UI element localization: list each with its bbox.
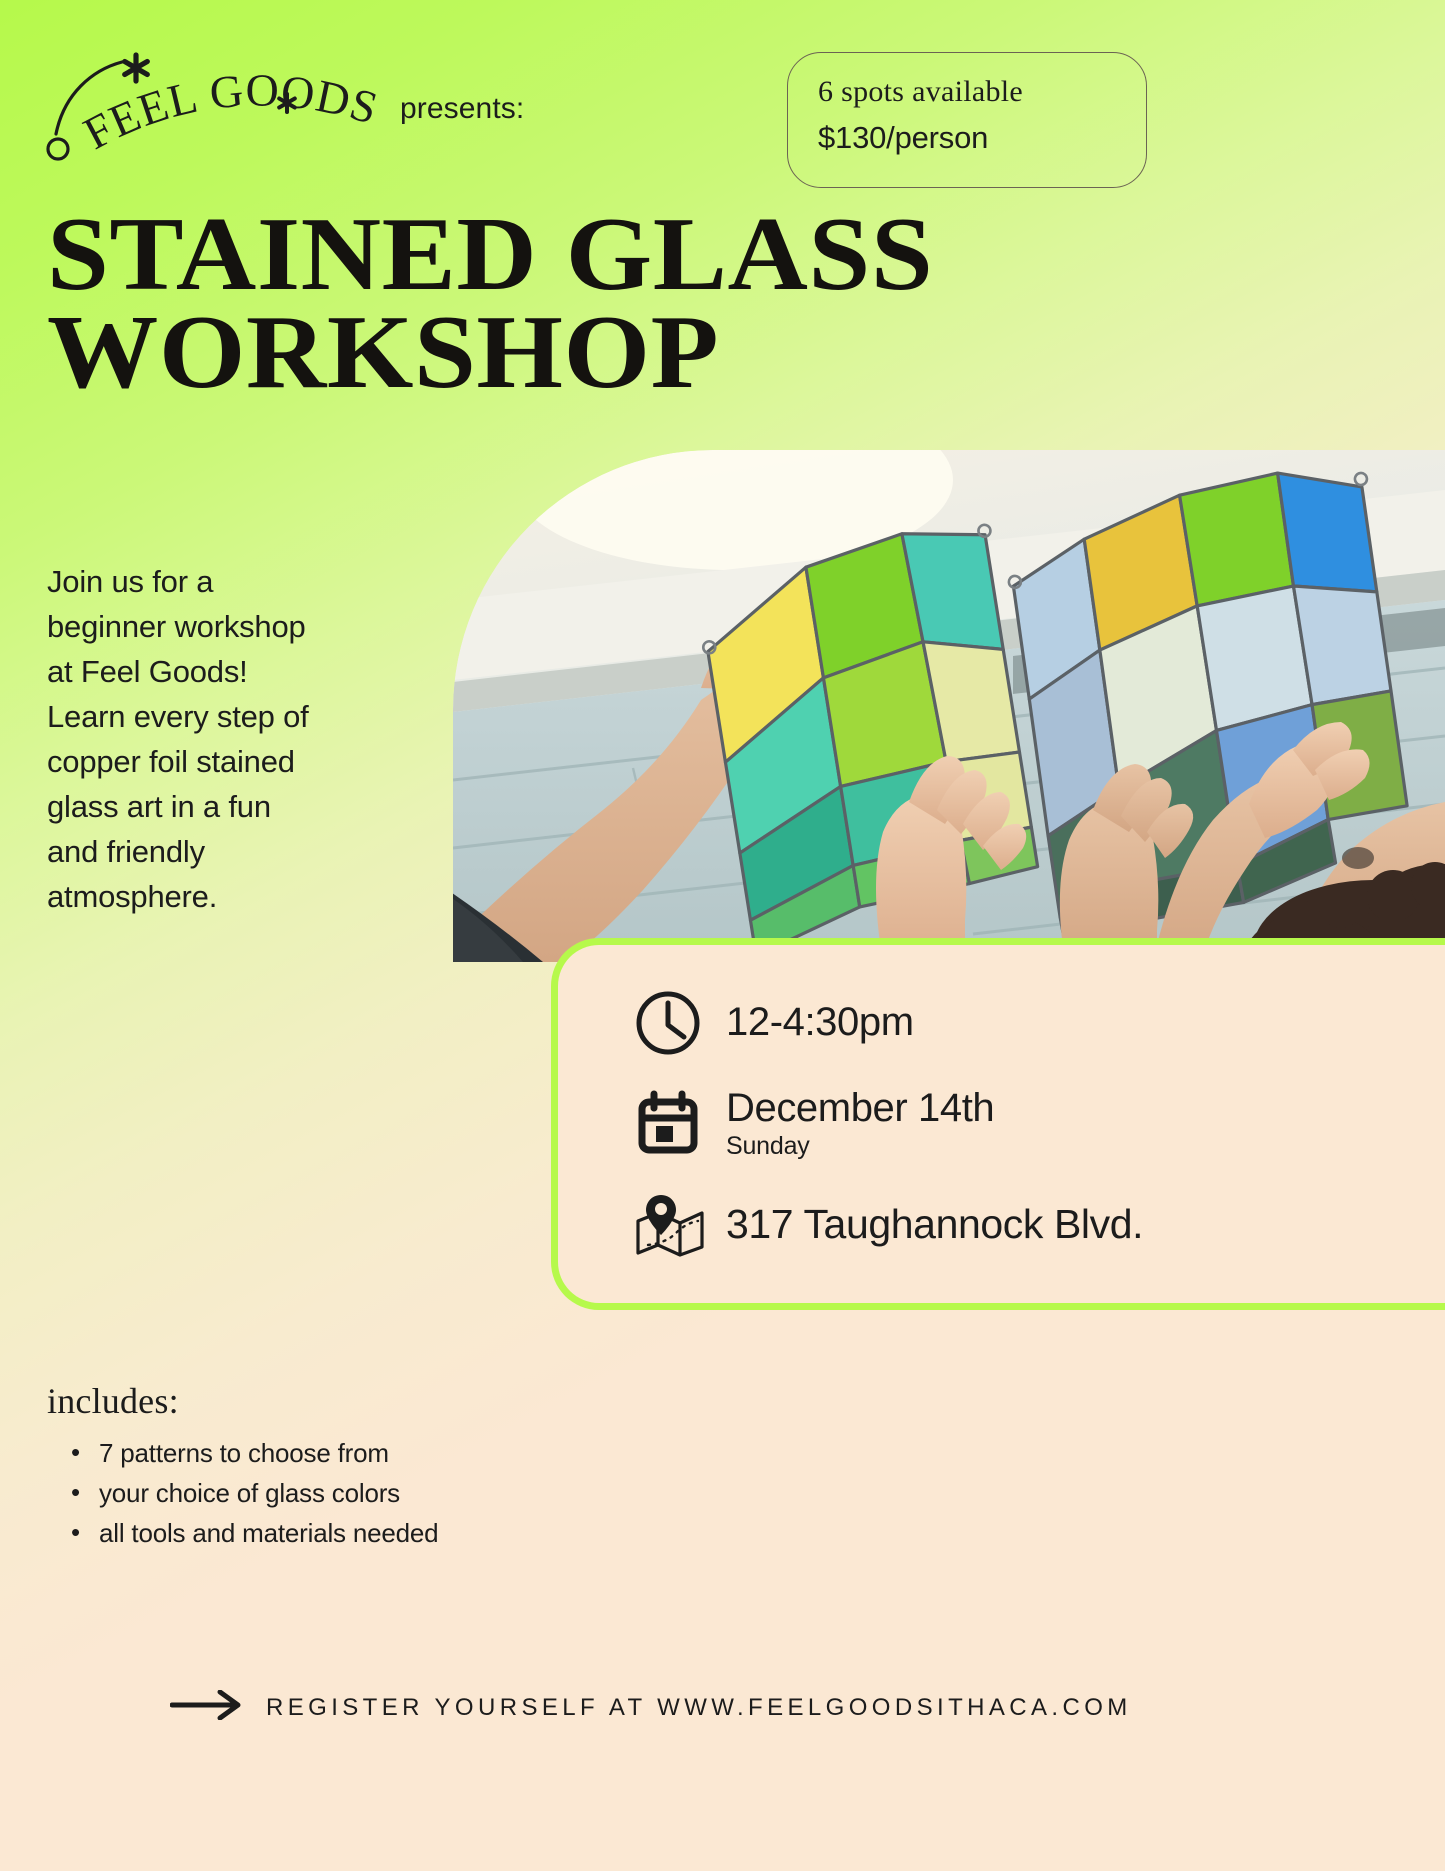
arrow-right-icon (170, 1690, 244, 1725)
price-text: $130/person (818, 120, 1146, 156)
includes-list: 7 patterns to choose from your choice of… (47, 1434, 567, 1553)
page-title: STAINED GLASS WORKSHOP (47, 205, 1001, 400)
date-value: December 14th (726, 1086, 994, 1130)
list-item: all tools and materials needed (47, 1514, 567, 1554)
time-value: 12-4:30pm (726, 1000, 914, 1044)
map-pin-icon (632, 1189, 710, 1259)
poster-canvas: FEEL GOODS presents: 6 spots available $… (0, 0, 1445, 1871)
presents-label: presents: (400, 92, 524, 126)
info-row-location: 317 Taughannock Blvd. (632, 1189, 1445, 1259)
feel-goods-logo-icon: FEEL GOODS (44, 44, 404, 164)
calendar-icon (632, 1088, 710, 1160)
intro-paragraph: Join us for a beginner workshop at Feel … (47, 560, 313, 920)
list-item: your choice of glass colors (47, 1474, 567, 1514)
svg-text:FEEL GOODS: FEEL GOODS (75, 64, 384, 159)
date-text-block: December 14th Sunday (726, 1087, 994, 1161)
register-text[interactable]: REGISTER YOURSELF AT WWW.FEELGOODSITHACA… (266, 1694, 1132, 1722)
date-weekday: Sunday (726, 1132, 994, 1161)
info-row-time: 12-4:30pm (632, 987, 1445, 1059)
spots-available-text: 6 spots available (818, 75, 1146, 108)
clock-icon (632, 987, 710, 1059)
includes-heading: includes: (47, 1380, 567, 1422)
stained-glass-photo (453, 450, 1445, 962)
event-details-card: 12-4:30pm December 14th Sunday (551, 938, 1445, 1310)
register-footer[interactable]: REGISTER YOURSELF AT WWW.FEELGOODSITHACA… (170, 1690, 1132, 1725)
info-row-date: December 14th Sunday (632, 1087, 1445, 1161)
brand-logo: FEEL GOODS (44, 44, 404, 164)
photo-illustration (453, 450, 1445, 962)
includes-section: includes: 7 patterns to choose from your… (47, 1380, 567, 1553)
title-line-2: WORKSHOP (47, 303, 1001, 401)
spots-price-badge: 6 spots available $130/person (787, 52, 1147, 188)
time-text-block: 12-4:30pm (726, 1001, 914, 1044)
list-item: 7 patterns to choose from (47, 1434, 567, 1474)
location-value: 317 Taughannock Blvd. (726, 1201, 1143, 1247)
location-text-block: 317 Taughannock Blvd. (726, 1202, 1143, 1246)
